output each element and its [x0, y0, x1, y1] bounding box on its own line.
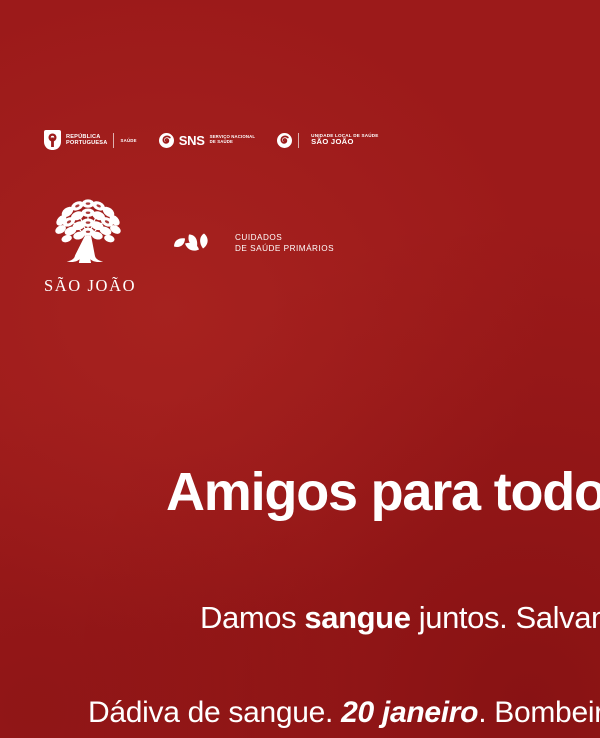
sns-logo: SNS SERVIÇO NACIONAL DE SAÚDE [159, 133, 255, 148]
poster-subhead: Damos sangue juntos. Salvamos vidas. [200, 602, 600, 633]
brand-row: SÃO JOÃO CUIDADOS DE SAÚDE PRIMÁRIOS [44, 196, 600, 296]
csp-brand: CUIDADOS DE SAÚDE PRIMÁRIOS [168, 226, 334, 260]
detail-suffix: . Bombeiros [478, 696, 600, 729]
republica-portuguesa-shield-icon [44, 130, 61, 150]
detail-prefix: Dádiva de sangue. [88, 696, 341, 729]
republica-portuguesa-logo: REPÚBLICA PORTUGUESA SAÚDE [44, 130, 137, 150]
poster-headline: Amigos para todos [166, 465, 600, 519]
csp-leaf-flower-icon [168, 226, 224, 260]
csp-line2: DE SAÚDE PRIMÁRIOS [235, 243, 334, 254]
republica-tagline: SAÚDE [120, 138, 136, 143]
poster-canvas: REPÚBLICA PORTUGUESA SAÚDE SNS SERVIÇO N… [0, 0, 600, 738]
uls-line2: SÃO JOÃO [311, 138, 378, 147]
subhead-bold-word: sangue [304, 600, 410, 635]
detail-date: 20 janeiro [341, 696, 478, 729]
sns-sub-line2: DE SAÚDE [210, 140, 256, 145]
sao-joao-tree-icon [49, 196, 127, 266]
uls-divider [298, 133, 299, 148]
sao-joao-brand: SÃO JOÃO [44, 196, 132, 296]
uls-wordmark: UNIDADE LOCAL DE SAÚDE SÃO JOÃO [311, 133, 378, 147]
subhead-suffix: juntos. Salvamos vidas. [411, 600, 600, 635]
sns-acronym: SNS [179, 133, 205, 148]
republica-line2: PORTUGUESA [66, 140, 107, 146]
logo-divider [113, 133, 114, 148]
uls-swirl-icon [277, 133, 292, 148]
republica-portuguesa-wordmark: REPÚBLICA PORTUGUESA [66, 134, 107, 146]
csp-line1: CUIDADOS [235, 232, 334, 243]
csp-wordmark: CUIDADOS DE SAÚDE PRIMÁRIOS [235, 232, 334, 255]
sao-joao-wordmark: SÃO JOÃO [44, 276, 132, 296]
unidade-local-saude-logo: UNIDADE LOCAL DE SAÚDE SÃO JOÃO [277, 133, 378, 148]
poster-detail-line: Dádiva de sangue. 20 janeiro. Bombeiros [88, 698, 600, 728]
sns-swirl-icon [159, 133, 174, 148]
subhead-prefix: Damos [200, 600, 304, 635]
sns-subtitle: SERVIÇO NACIONAL DE SAÚDE [210, 135, 256, 144]
institutional-logo-bar: REPÚBLICA PORTUGUESA SAÚDE SNS SERVIÇO N… [44, 130, 600, 150]
